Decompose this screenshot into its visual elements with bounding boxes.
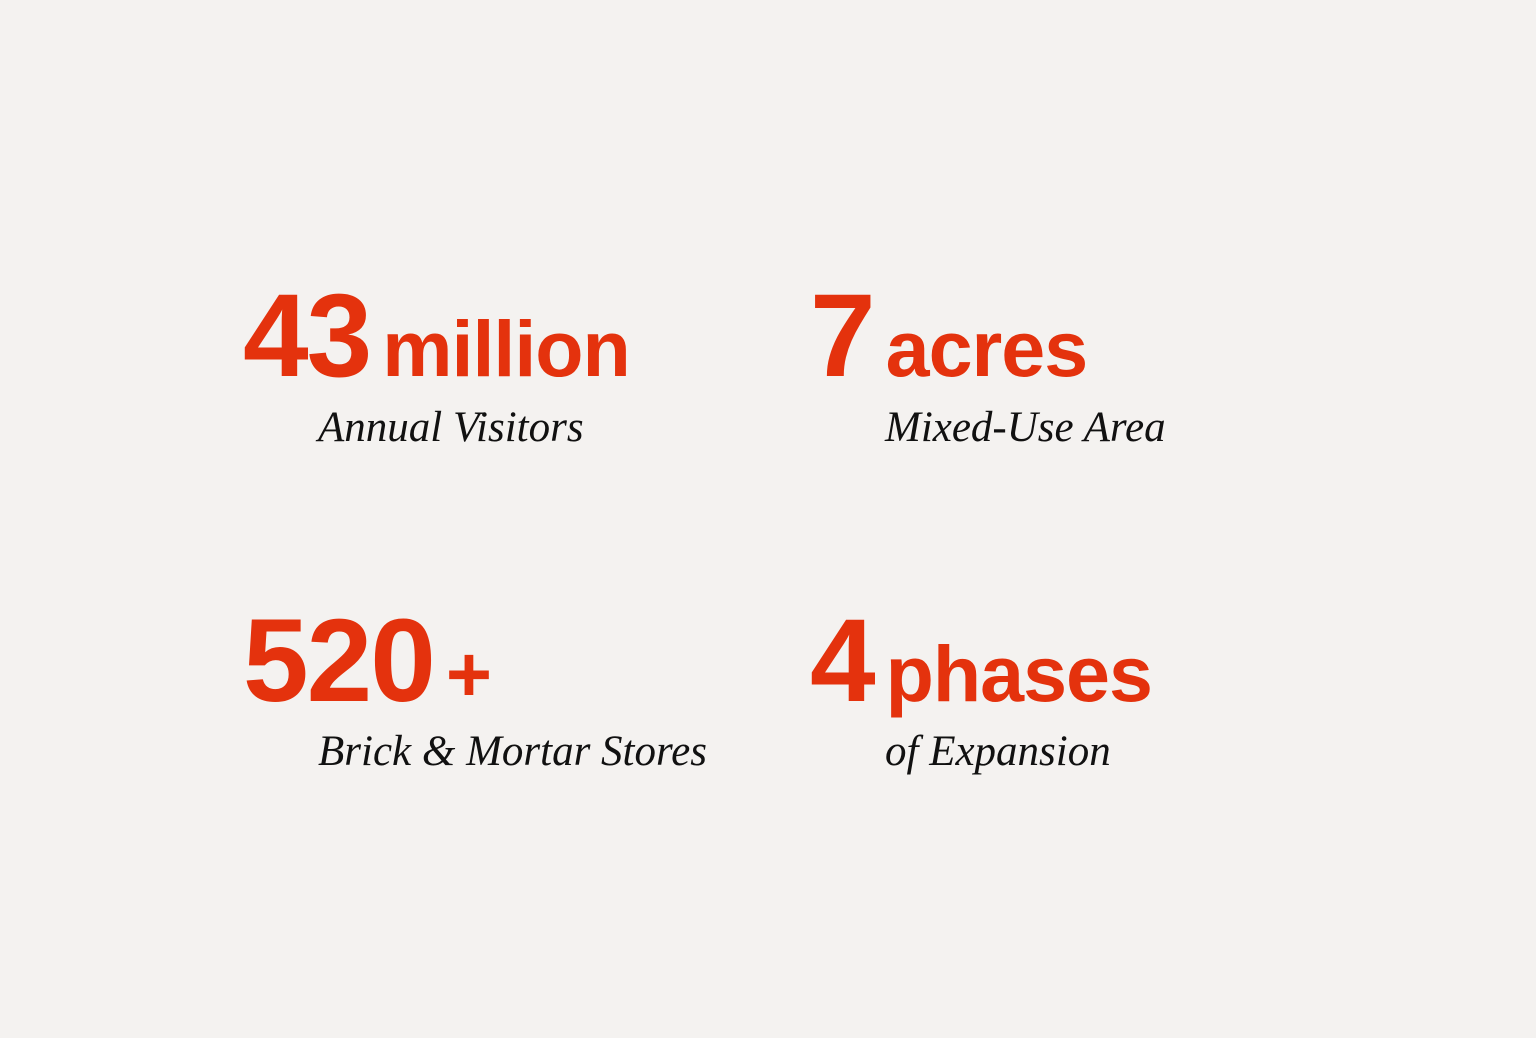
stat-number-brick-and-mortar-stores: 520 [243, 611, 434, 712]
stat-unit-brick-and-mortar-stores: + [446, 640, 491, 708]
stat-unit-phases-of-expansion: phases [886, 640, 1152, 708]
stat-card-annual-visitors: 43 million Annual Visitors [243, 286, 810, 449]
stat-label-mixed-use-area: Mixed-Use Area [885, 406, 1253, 449]
stat-card-mixed-use-area: 7 acres Mixed-Use Area [810, 286, 1253, 449]
stat-value-phases-of-expansion: 4 phases [810, 611, 1253, 712]
stat-card-brick-and-mortar-stores: 520 + Brick & Mortar Stores [243, 611, 810, 772]
stat-value-brick-and-mortar-stores: 520 + [243, 611, 810, 712]
stat-number-mixed-use-area: 7 [810, 286, 874, 387]
stat-unit-annual-visitors: million [382, 315, 630, 383]
stat-label-annual-visitors: Annual Visitors [318, 406, 810, 449]
stats-grid: 43 million Annual Visitors 7 acres Mixed… [243, 286, 1253, 773]
stat-unit-mixed-use-area: acres [886, 315, 1088, 383]
stat-label-phases-of-expansion: of Expansion [885, 730, 1253, 773]
stat-value-mixed-use-area: 7 acres [810, 286, 1253, 387]
stat-card-phases-of-expansion: 4 phases of Expansion [810, 611, 1253, 772]
stat-number-annual-visitors: 43 [243, 286, 370, 387]
stat-number-phases-of-expansion: 4 [810, 611, 874, 712]
stat-label-brick-and-mortar-stores: Brick & Mortar Stores [318, 730, 810, 773]
stats-board: 43 million Annual Visitors 7 acres Mixed… [0, 0, 1536, 1038]
stat-value-annual-visitors: 43 million [243, 286, 810, 387]
